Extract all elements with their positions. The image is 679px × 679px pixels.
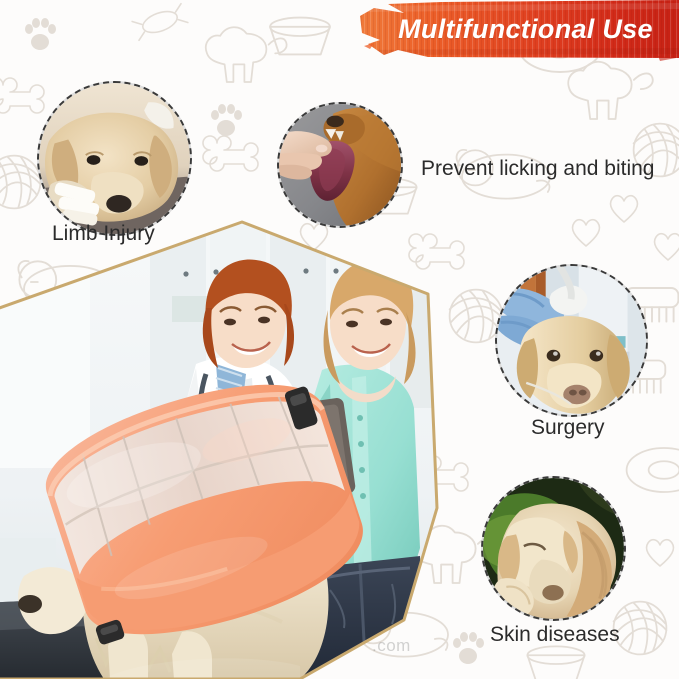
prevent-licking-photo — [279, 104, 401, 226]
feature-image-prevent-licking-and-biting — [277, 102, 403, 228]
title-banner: Multifunctional Use — [358, 0, 679, 62]
feature-label-surgery: Surgery — [531, 416, 605, 440]
feature-label-prevent-licking-and-biting: Prevent licking and biting — [421, 157, 654, 181]
limb-injury-photo — [39, 83, 190, 234]
feature-label-skin-diseases: Skin diseases — [490, 623, 620, 647]
feature-image-limb-injury — [37, 81, 192, 236]
surgery-photo — [497, 266, 646, 415]
site-watermark: .com — [372, 636, 411, 656]
main-product-photo-hexagon — [0, 208, 470, 679]
feature-image-surgery — [495, 264, 648, 417]
feature-label-limb-injury: Limb Injury — [52, 222, 155, 246]
product-infographic: Multifunctional Use — [0, 0, 679, 679]
page-title: Multifunctional Use — [358, 0, 679, 58]
feature-image-skin-diseases — [481, 476, 626, 621]
skin-diseases-photo — [483, 478, 624, 619]
